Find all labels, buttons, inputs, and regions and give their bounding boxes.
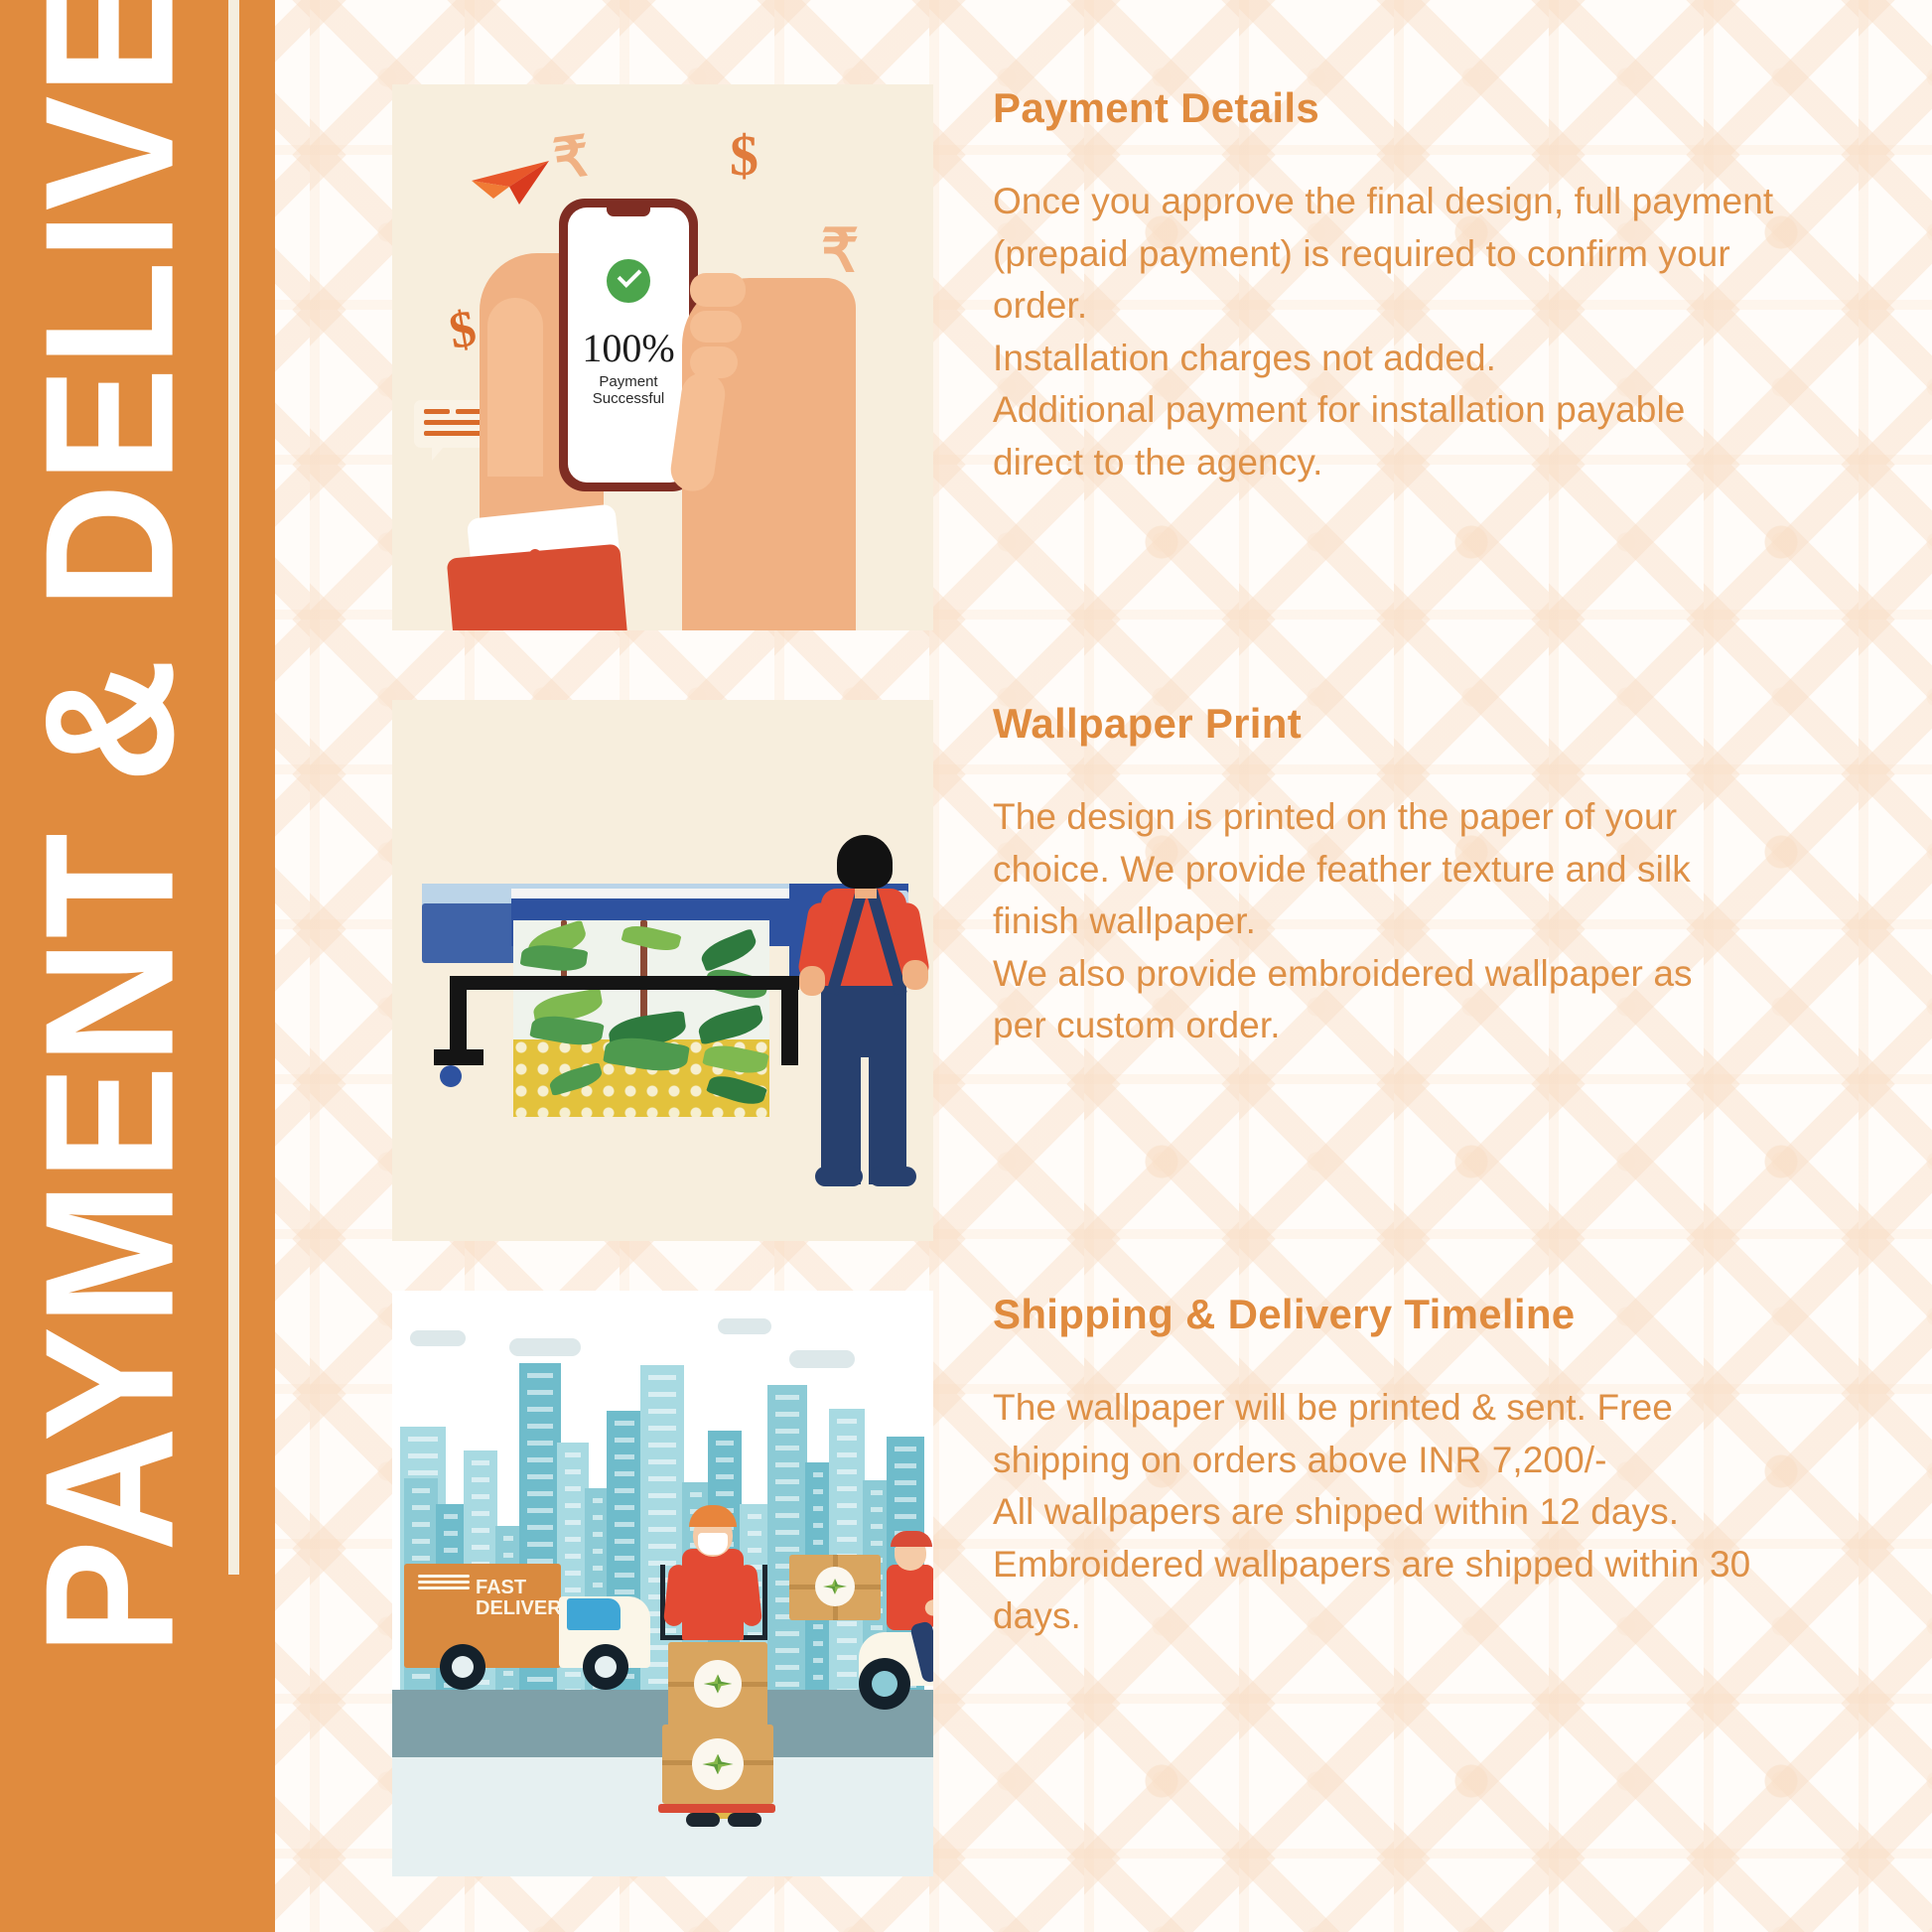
- section-shipping-delivery: FAST DELIVERY: [275, 1291, 1932, 1876]
- section-title-wallpaper: Wallpaper Print: [993, 700, 1807, 748]
- courier-shoe: [686, 1813, 720, 1827]
- worker-shoe: [869, 1167, 916, 1186]
- speed-lines-icon: [418, 1575, 470, 1590]
- section-body-shipping: The wallpaper will be printed & sent. Fr…: [993, 1382, 1807, 1643]
- rider-body: [887, 1565, 933, 1630]
- content-area: ₹ $ ₹ $: [275, 0, 1932, 1932]
- kalaskar-logo: [815, 1567, 855, 1606]
- trolley-base: [658, 1804, 775, 1813]
- body-line: Additional payment for installation paya…: [993, 384, 1807, 437]
- section-title-shipping: Shipping & Delivery Timeline: [993, 1291, 1807, 1338]
- section-body-payment: Once you approve the final design, full …: [993, 176, 1807, 488]
- rupee-icon: ₹: [821, 216, 859, 286]
- body-line: Installation charges not added.: [993, 333, 1807, 385]
- body-line: days.: [993, 1590, 1807, 1643]
- truck-label-line1: FAST: [476, 1577, 526, 1598]
- payment-text-column: Payment Details Once you approve the fin…: [993, 84, 1807, 488]
- parcel-box: [662, 1725, 773, 1804]
- printer-stand-bar: [450, 976, 799, 990]
- sleeve: [447, 544, 631, 630]
- paper-plane-icon: [470, 159, 553, 207]
- body-line: The design is printed on the paper of yo…: [993, 791, 1807, 844]
- phone-notch: [607, 207, 650, 216]
- parcel-box: [789, 1555, 881, 1620]
- dollar-icon: $: [730, 122, 759, 189]
- courier-shoe: [728, 1813, 761, 1827]
- payment-illustration: ₹ $ ₹ $: [392, 84, 933, 630]
- worker-hand: [799, 966, 825, 996]
- parcel-box: [668, 1642, 767, 1727]
- kalaskar-logo: [694, 1660, 742, 1708]
- success-check-icon: [607, 259, 650, 303]
- body-line: Once you approve the final design, full …: [993, 176, 1807, 228]
- truck-wheel: [583, 1644, 628, 1690]
- rider-cap: [891, 1531, 932, 1547]
- body-line: (prepaid payment) is required to confirm…: [993, 228, 1807, 281]
- worker-hand: [902, 960, 928, 990]
- truck-window: [567, 1598, 621, 1630]
- wallpaper-text-column: Wallpaper Print The design is printed on…: [993, 700, 1807, 1052]
- section-body-wallpaper: The design is printed on the paper of yo…: [993, 791, 1807, 1052]
- printer-leg: [781, 976, 798, 1065]
- body-line: choice. We provide feather texture and s…: [993, 844, 1807, 897]
- section-wallpaper-print: Wallpaper Print The design is printed on…: [275, 700, 1932, 1241]
- body-line: We also provide embroidered wallpaper as: [993, 948, 1807, 1001]
- printer-caster-wheel: [440, 1065, 462, 1087]
- scooter-wheel: [859, 1658, 910, 1710]
- body-line: shipping on orders above INR 7,200/-: [993, 1435, 1807, 1487]
- delivery-illustration: FAST DELIVERY: [392, 1291, 933, 1876]
- section-payment-details: ₹ $ ₹ $: [275, 84, 1932, 630]
- city-scene: FAST DELIVERY: [392, 1291, 933, 1876]
- section-title-payment: Payment Details: [993, 84, 1807, 132]
- dollar-icon: $: [445, 299, 481, 361]
- leg-gap: [861, 1057, 869, 1184]
- worker-head: [837, 835, 893, 889]
- trolley-handle: [762, 1565, 767, 1640]
- face-mask-icon: [698, 1533, 728, 1555]
- body-line: direct to the agency.: [993, 437, 1807, 489]
- payment-percent: 100%: [568, 325, 689, 371]
- kalaskar-logo: [692, 1738, 744, 1790]
- worker-shoe: [815, 1167, 863, 1186]
- courier-body: [682, 1549, 744, 1640]
- finger: [690, 311, 742, 343]
- rupee-icon: ₹: [550, 124, 594, 193]
- phone-screen: 100% Payment Successful: [568, 207, 689, 483]
- body-line: All wallpapers are shipped within 12 day…: [993, 1486, 1807, 1539]
- body-line: per custom order.: [993, 1000, 1807, 1052]
- body-line: order.: [993, 280, 1807, 333]
- page-title: PAYMENT & DELIVERY: [18, 0, 201, 1725]
- body-line: The wallpaper will be printed & sent. Fr…: [993, 1382, 1807, 1435]
- printer-illustration: [392, 700, 933, 1241]
- payment-status-text: Payment Successful: [568, 373, 689, 407]
- shipping-text-column: Shipping & Delivery Timeline The wallpap…: [993, 1291, 1807, 1643]
- thumb: [487, 298, 543, 477]
- printer-foot: [434, 1049, 483, 1065]
- finger: [690, 273, 746, 307]
- body-line: finish wallpaper.: [993, 896, 1807, 948]
- sidebar-banner: PAYMENT & DELIVERY: [0, 0, 275, 1932]
- printed-wallpaper: [513, 920, 769, 1117]
- truck-wheel: [440, 1644, 485, 1690]
- sidebar-divider-line: [228, 0, 239, 1575]
- body-line: Embroidered wallpapers are shipped withi…: [993, 1539, 1807, 1591]
